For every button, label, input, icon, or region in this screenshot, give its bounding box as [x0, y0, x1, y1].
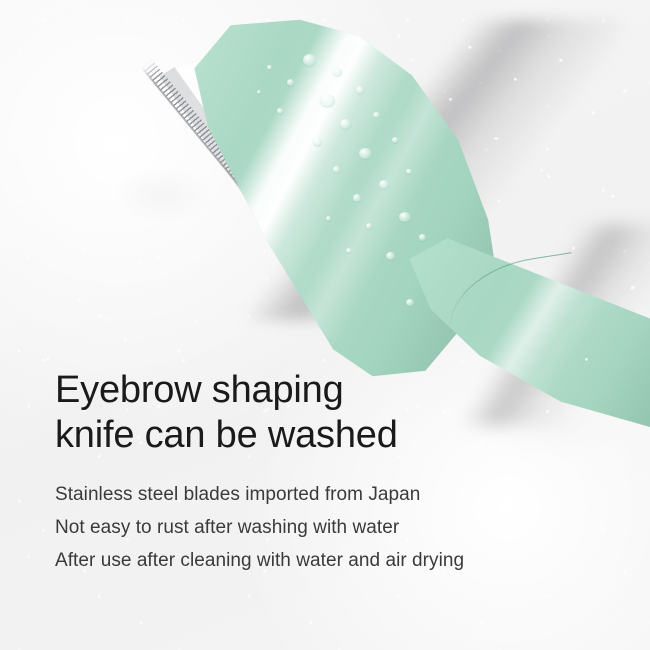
head-body — [168, 18, 498, 378]
feature-item: Stainless steel blades imported from Jap… — [55, 478, 615, 511]
blade-body — [152, 58, 402, 364]
head-water-droplets — [168, 18, 498, 378]
headline-line-2: knife can be washed — [55, 413, 615, 458]
head-cast-shadow — [150, 20, 620, 320]
razor-blade — [152, 58, 402, 364]
serration-teeth — [142, 59, 362, 322]
head-specular-highlight — [168, 18, 498, 378]
razor-head — [168, 18, 498, 378]
serration-spine — [141, 67, 352, 323]
head-secondary-highlight — [168, 18, 498, 378]
page-title: Eyebrow shaping knife can be washed — [55, 368, 615, 458]
head-shaded-edge — [168, 18, 498, 378]
feature-list: Stainless steel blades imported from Jap… — [55, 478, 615, 577]
feature-item: After use after cleaning with water and … — [55, 544, 615, 577]
blade-edge — [152, 58, 402, 364]
feature-item: Not easy to rust after washing with wate… — [55, 511, 615, 544]
headline-line-1: Eyebrow shaping — [55, 368, 615, 413]
head-handle-seam — [441, 252, 585, 361]
product-image-canvas: Eyebrow shaping knife can be washed Stai… — [0, 0, 650, 650]
marketing-copy: Eyebrow shaping knife can be washed Stai… — [55, 368, 615, 577]
